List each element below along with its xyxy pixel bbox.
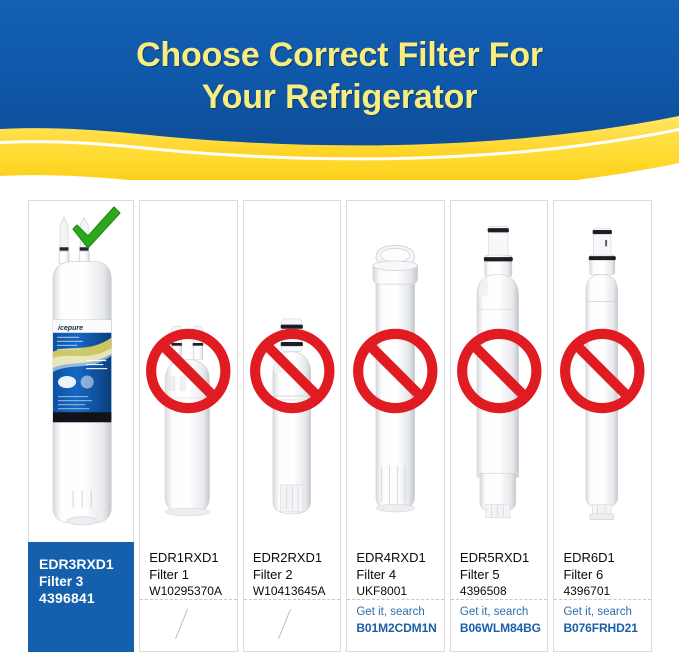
filter-label-edr6: EDR6D1 Filter 6 4396701 Get it, search B… xyxy=(554,541,651,651)
title-line-1: Choose Correct Filter For xyxy=(136,36,543,74)
filter-model: EDR5RXD1 xyxy=(460,549,548,566)
filter-card-edr4[interactable]: EDR4RXD1 Filter 4 UKF8001 Get it, search… xyxy=(346,200,445,652)
filter-illustration-edr4 xyxy=(347,201,444,541)
product-image-edr4 xyxy=(347,201,444,541)
filter-model: EDR3RXD1 xyxy=(39,556,134,573)
product-image-edr6 xyxy=(554,201,651,541)
product-image-edr5 xyxy=(451,201,548,541)
asin-code[interactable]: B01M2CDM1N xyxy=(356,620,444,636)
filter-part-number: UKF8001 xyxy=(356,583,444,600)
product-image-edr3: icepure xyxy=(29,201,133,543)
asin-code[interactable]: B076FRHD21 xyxy=(563,620,651,636)
filter-label-edr4: EDR4RXD1 Filter 4 UKF8001 Get it, search… xyxy=(347,541,444,651)
filter-label-edr1: EDR1RXD1 Filter 1 W10295370A xyxy=(140,541,237,651)
filter-part-number: W10295370A xyxy=(149,583,237,600)
filter-number: Filter 2 xyxy=(253,566,341,583)
asin-area: Get it, search B01M2CDM1N xyxy=(347,599,444,651)
strikethrough-slash xyxy=(278,609,291,639)
filter-illustration-edr3: icepure xyxy=(29,201,133,543)
asin-area xyxy=(244,599,341,651)
filter-number: Filter 1 xyxy=(149,566,237,583)
header-banner: Choose Correct Filter For Your Refrigera… xyxy=(0,0,679,180)
filter-illustration-edr1 xyxy=(140,201,237,541)
asin-code[interactable]: B06WLM84BG xyxy=(460,620,548,636)
filter-comparison-grid: icepure xyxy=(28,200,652,652)
asin-area: Get it, search B06WLM84BG xyxy=(451,599,548,651)
title-line-2: Your Refrigerator xyxy=(0,76,679,118)
product-image-edr2 xyxy=(244,201,341,541)
filter-card-edr2[interactable]: EDR2RXD1 Filter 2 W10413645A xyxy=(243,200,342,652)
filter-illustration-edr2 xyxy=(244,201,341,541)
filter-number: Filter 3 xyxy=(39,573,134,590)
filter-card-edr1[interactable]: EDR1RXD1 Filter 1 W10295370A xyxy=(139,200,238,652)
filter-part-number: W10413645A xyxy=(253,583,341,600)
filter-part-number: 4396841 xyxy=(39,590,134,607)
asin-prefix: Get it, search xyxy=(563,604,651,620)
page-title: Choose Correct Filter For Your Refrigera… xyxy=(0,34,679,118)
product-image-edr1 xyxy=(140,201,237,541)
asin-prefix: Get it, search xyxy=(356,604,444,620)
filter-model: EDR6D1 xyxy=(563,549,651,566)
svg-text:icepure: icepure xyxy=(58,325,83,332)
filter-number: Filter 4 xyxy=(356,566,444,583)
filter-illustration-edr6 xyxy=(554,201,651,541)
filter-model: EDR2RXD1 xyxy=(253,549,341,566)
filter-card-edr5[interactable]: EDR5RXD1 Filter 5 4396508 Get it, search… xyxy=(450,200,549,652)
filter-part-number: 4396701 xyxy=(563,583,651,600)
filter-card-edr3[interactable]: icepure xyxy=(28,200,134,652)
filter-label-edr2: EDR2RXD1 Filter 2 W10413645A xyxy=(244,541,341,651)
filter-label-edr5: EDR5RXD1 Filter 5 4396508 Get it, search… xyxy=(451,541,548,651)
filter-model: EDR1RXD1 xyxy=(149,549,237,566)
filter-label-edr3: EDR3RXD1 Filter 3 4396841 xyxy=(28,542,134,652)
asin-prefix: Get it, search xyxy=(460,604,548,620)
filter-number: Filter 6 xyxy=(563,566,651,583)
filter-illustration-edr5 xyxy=(451,201,548,541)
filter-part-number: 4396508 xyxy=(460,583,548,600)
filter-number: Filter 5 xyxy=(460,566,548,583)
asin-area xyxy=(140,599,237,651)
strikethrough-slash xyxy=(175,609,188,639)
filter-model: EDR4RXD1 xyxy=(356,549,444,566)
asin-area: Get it, search B076FRHD21 xyxy=(554,599,651,651)
filter-card-edr6[interactable]: EDR6D1 Filter 6 4396701 Get it, search B… xyxy=(553,200,652,652)
